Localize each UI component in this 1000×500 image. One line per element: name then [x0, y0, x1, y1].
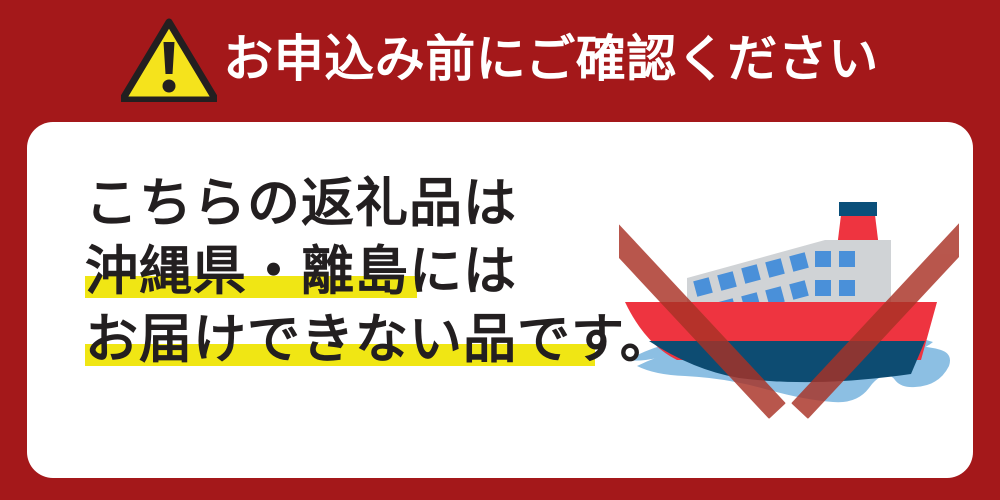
- ship-no-delivery-illustration: [619, 154, 959, 424]
- page-title: お申込み前にご確認ください: [223, 34, 879, 87]
- message-line-2: 沖縄県・離島には: [85, 238, 605, 306]
- banner-header: お申込み前にご確認ください: [0, 0, 1000, 120]
- warning-triangle-icon: [121, 18, 217, 102]
- message-line-3-text: お届けできない品です。: [85, 310, 674, 369]
- message-line-3: お届けできない品です。: [85, 306, 605, 374]
- message-line-1: こちらの返礼品は: [85, 170, 605, 238]
- message-line-1-text: こちらの返礼品は: [85, 174, 517, 233]
- message-line-2-text: 沖縄県・離島には: [85, 242, 517, 301]
- notice-message: こちらの返礼品は 沖縄県・離島には お届けできない品です。: [85, 170, 605, 374]
- warning-banner: お申込み前にご確認ください こちらの返礼品は 沖縄県・離島には お届けできない品…: [0, 0, 1000, 500]
- notice-card: こちらの返礼品は 沖縄県・離島には お届けできない品です。: [27, 122, 973, 478]
